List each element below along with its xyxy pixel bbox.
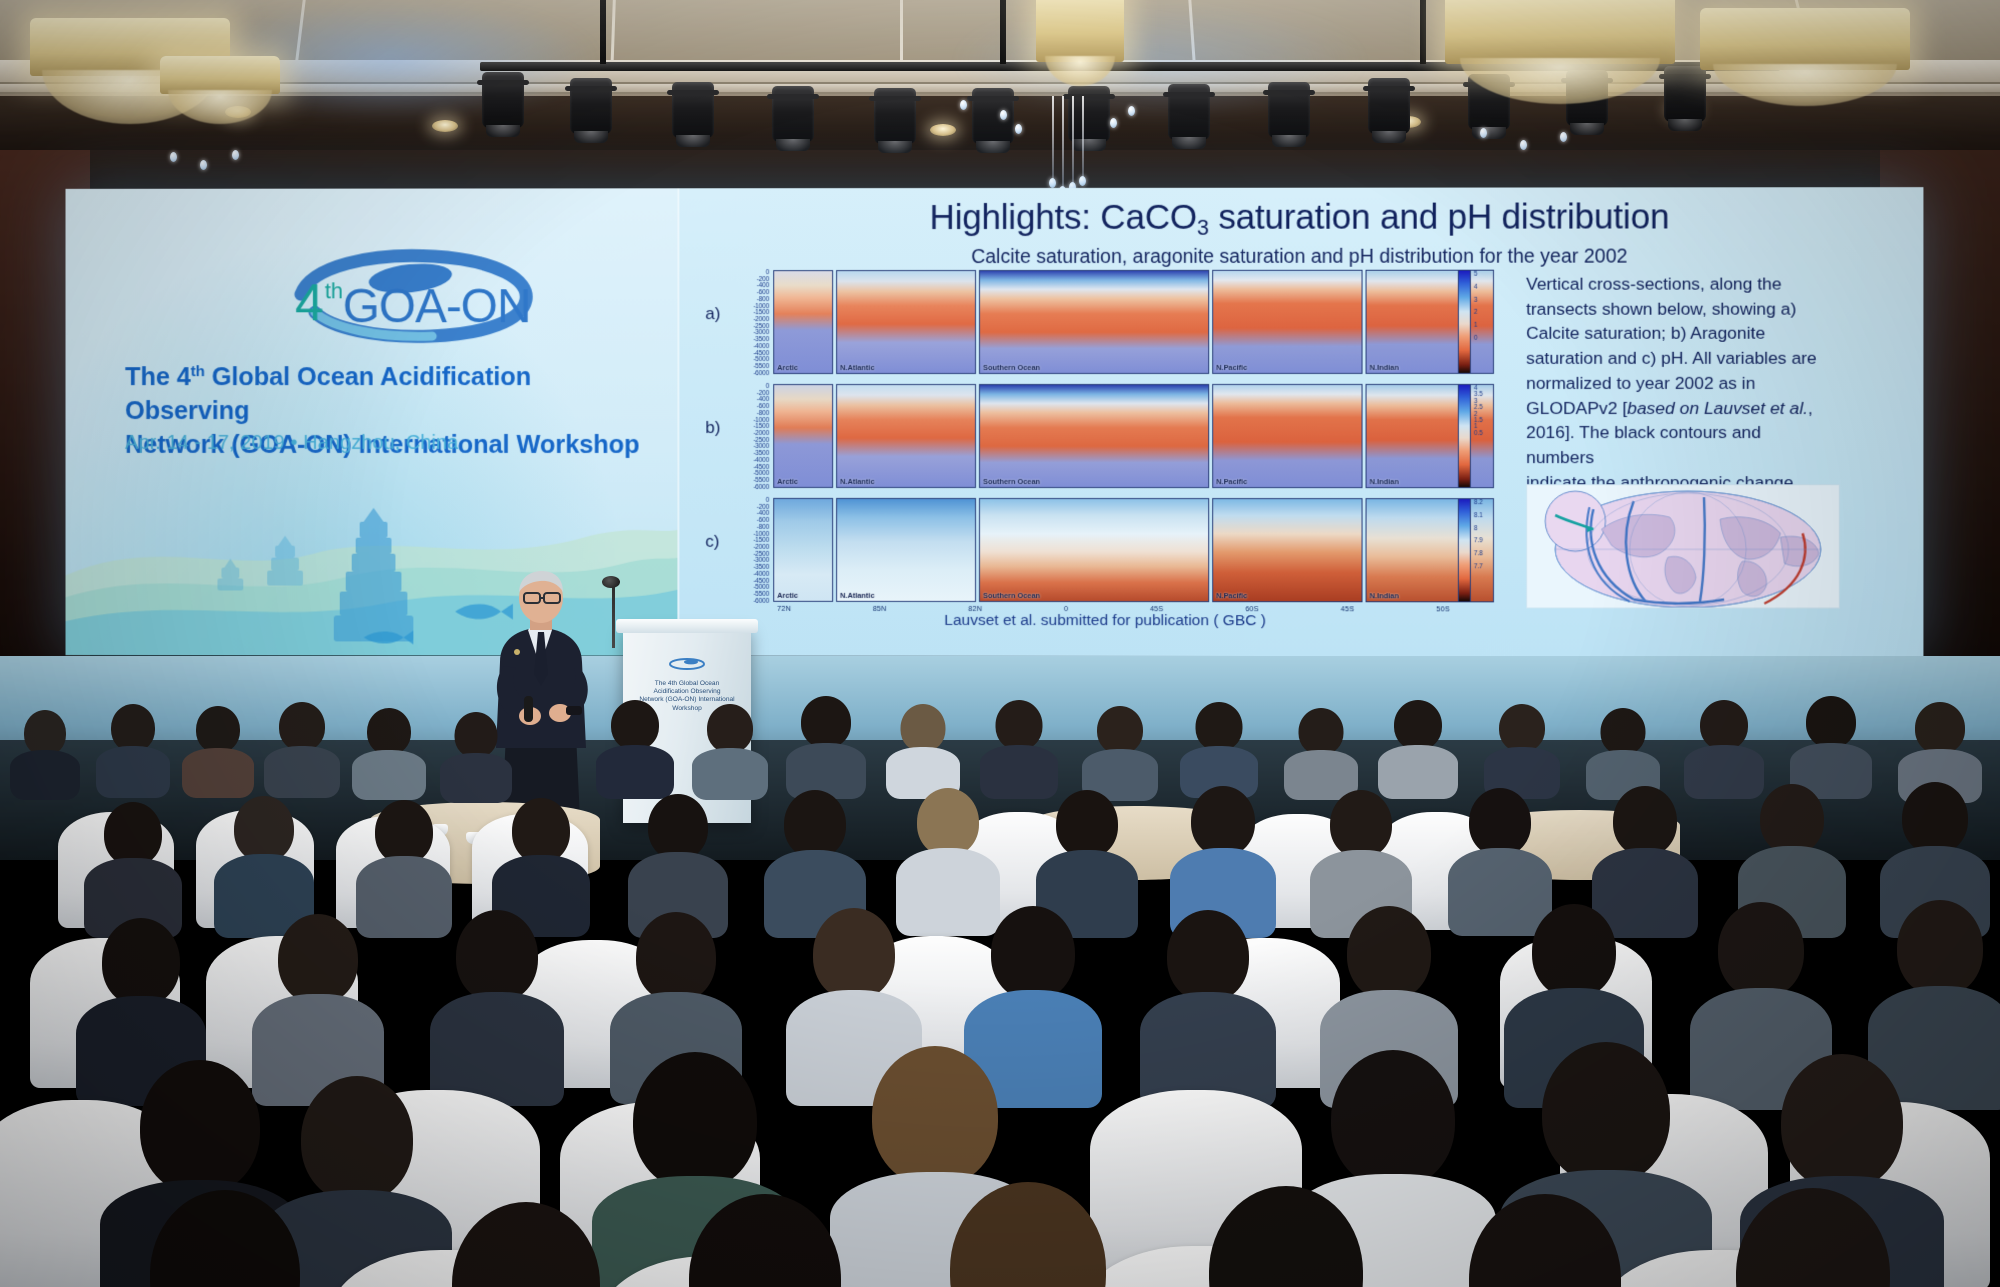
head [1056, 790, 1118, 858]
lectern-top [616, 619, 758, 633]
panel-b-depth-axis: 0-200-400-600-800-1000-1500-2000-2500-30… [709, 384, 769, 491]
section-southern-ocean: Southern Ocean [979, 270, 1209, 374]
head [648, 794, 708, 860]
audience-member [1082, 706, 1158, 798]
chandelier-bead [1128, 106, 1135, 116]
head [1902, 782, 1968, 854]
head [689, 1194, 841, 1287]
stage-light [482, 72, 524, 128]
section-npacific: N.Pacific [1212, 498, 1362, 602]
head [707, 704, 753, 753]
audience-member [886, 704, 960, 796]
chandelier-strand [1072, 96, 1074, 186]
head [1330, 790, 1392, 858]
section-label: N.Pacific [1216, 363, 1247, 372]
slide-title-subscript: 3 [1197, 215, 1209, 240]
panel-c-depth-axis: 0-200-400-600-800-1000-1500-2000-2500-30… [709, 498, 769, 605]
svg-text:th: th [325, 278, 343, 303]
head [1167, 910, 1249, 1002]
side-text-citation-italic: based on Lauvset et al. [1627, 397, 1808, 417]
stage-light [570, 78, 612, 134]
section-label: Arctic [777, 477, 798, 486]
chandelier-center [1000, 0, 1160, 190]
lectern-logo [666, 658, 708, 671]
head [455, 712, 498, 758]
transect-world-map [1526, 484, 1840, 609]
head [813, 908, 895, 1000]
audience-member [1484, 704, 1560, 796]
head [784, 790, 846, 858]
section-arctic: Arctic [773, 498, 833, 602]
workshop-title-ordinal: th [191, 363, 205, 380]
figure-stack: a) 0-200-400-600-800-1000-1500-2000-2500… [705, 270, 1506, 611]
head [102, 918, 180, 1006]
chandelier-bead [1560, 132, 1567, 142]
stage-light [1168, 84, 1210, 140]
side-text-line-7: 2016]. The black contours and numbers [1526, 420, 1830, 470]
head [456, 910, 538, 1002]
section-arctic: Arctic [773, 270, 833, 374]
head [1806, 696, 1856, 748]
audience-member [786, 696, 866, 796]
chandelier-bead [1015, 124, 1022, 134]
slide-subtitle: Calcite saturation, aragonite saturation… [677, 245, 1923, 269]
slide-citation: Lauvset et al. submitted for publication… [705, 612, 1506, 631]
audience-member [404, 1202, 648, 1287]
audience-member [440, 712, 512, 800]
audience-member [692, 704, 768, 796]
chandelier-bead [1000, 110, 1007, 120]
slide-title: Highlights: CaCO3 saturation and pH dist… [677, 197, 1923, 241]
head [1347, 906, 1431, 1000]
panel-c-sections: Arctic N.Atlantic Southern Ocean N.Pacif… [773, 498, 1506, 602]
stage-light [1268, 82, 1310, 138]
slide-title-pre: Highlights: CaCO [930, 198, 1197, 237]
section-southern-ocean: Southern Ocean [979, 498, 1209, 602]
head [1331, 1050, 1455, 1188]
head [1191, 786, 1255, 856]
chandelier-bead [170, 152, 177, 162]
svg-text:4: 4 [295, 273, 324, 331]
torso [596, 745, 674, 799]
audience-member [1586, 708, 1660, 798]
panel-c-colorbar [1458, 498, 1471, 602]
section-southern-ocean: Southern Ocean [979, 384, 1209, 488]
chandelier-bead [232, 150, 239, 160]
audience-member [84, 802, 182, 932]
panel-b: 0-200-400-600-800-1000-1500-2000-2500-30… [773, 384, 1506, 488]
head [301, 1076, 413, 1202]
section-npacific: N.Pacific [1212, 270, 1362, 374]
audience-member [1420, 1194, 1670, 1287]
audience-member [96, 704, 170, 796]
chandelier-bead [1079, 176, 1086, 186]
audience-member [1378, 700, 1458, 796]
head [917, 788, 979, 856]
stage-light [772, 86, 814, 142]
chandelier-bead [960, 100, 967, 110]
head [452, 1202, 600, 1287]
section-label: N.Atlantic [840, 363, 874, 372]
side-text-line-6-tail: , [1808, 397, 1813, 417]
head [611, 700, 659, 750]
side-text-line-1: Vertical cross-sections, along the [1526, 271, 1830, 296]
head [1736, 1188, 1890, 1287]
head [104, 802, 162, 866]
head [1209, 1186, 1363, 1287]
section-label: N.Atlantic [840, 477, 874, 486]
head [1097, 706, 1143, 754]
section-natlantic: N.Atlantic [836, 270, 976, 374]
section-label: N.Pacific [1216, 477, 1247, 486]
side-text-line-5: normalized to year 2002 as in [1526, 371, 1830, 396]
section-label: Southern Ocean [983, 363, 1040, 372]
head [111, 704, 155, 752]
head [1469, 788, 1531, 856]
truss-drop [1420, 0, 1426, 64]
side-text-line-4: saturation and c) pH. All variables are [1526, 346, 1830, 371]
head [872, 1046, 998, 1186]
audience-member [1284, 708, 1358, 798]
torso [440, 753, 512, 803]
head [150, 1190, 300, 1287]
stage-light [672, 82, 714, 138]
head [1394, 700, 1442, 750]
head [375, 800, 433, 864]
goa-on-logo: 4 th GOA-ON [259, 248, 538, 346]
chandelier-far-right [1690, 8, 1920, 158]
torso [264, 746, 340, 798]
section-natlantic: N.Atlantic [836, 384, 976, 488]
head [279, 702, 325, 751]
head [633, 1052, 757, 1190]
audience-member [10, 710, 80, 796]
head [1613, 786, 1677, 856]
svg-text:GOA-ON: GOA-ON [343, 280, 531, 333]
truss-drop [600, 0, 606, 64]
side-text-line-6-plain: GLODAPv2 [ [1526, 397, 1627, 417]
head [950, 1182, 1106, 1287]
section-label: Arctic [777, 363, 798, 372]
head [140, 1060, 260, 1194]
head [1915, 702, 1965, 754]
head [636, 912, 716, 1002]
head [1299, 708, 1344, 755]
head [1532, 904, 1616, 998]
chandelier-strand [1082, 96, 1084, 180]
slide-title-post: saturation and pH distribution [1209, 197, 1669, 236]
section-label: N.Indian [1370, 363, 1399, 372]
section-label: N.Indian [1370, 477, 1399, 486]
head [1499, 704, 1545, 752]
downlight [930, 124, 956, 136]
microphone-stand [612, 584, 615, 648]
section-label: Arctic [777, 591, 798, 600]
panel-c: 0-200-400-600-800-1000-1500-2000-2500-30… [773, 498, 1506, 602]
side-text-line-2: transects shown below, showing a) [1526, 296, 1830, 321]
panel-a-colorbar-ticks: 543210 [1474, 272, 1478, 343]
audience-member [352, 708, 426, 798]
panel-b-colorbar [1458, 384, 1471, 488]
section-label: Southern Ocean [983, 591, 1040, 600]
audience-member [640, 1194, 890, 1287]
slide-side-text: Vertical cross-sections, along the trans… [1526, 271, 1830, 519]
head [1469, 1194, 1621, 1287]
panel-c-colorbar-ticks: 8.28.187.97.87.7 [1474, 500, 1483, 571]
torso [352, 750, 426, 800]
audience-member [214, 796, 314, 932]
audience-member [1140, 910, 1276, 1098]
downlight [432, 120, 458, 132]
section-arctic: Arctic [773, 384, 833, 488]
head [1542, 1042, 1670, 1184]
audience-member [182, 706, 254, 796]
audience-member [430, 910, 564, 1098]
audience-member [100, 1190, 350, 1287]
chandelier-strand [1052, 96, 1054, 182]
head [196, 706, 240, 753]
chandelier-bead [1110, 118, 1117, 128]
torso [182, 748, 254, 798]
head [1196, 702, 1243, 751]
panel-a-depth-axis: 0-200-400-600-800-1000-1500-2000-2500-30… [709, 270, 769, 377]
section-npacific: N.Pacific [1212, 384, 1362, 488]
audience-member [596, 700, 674, 796]
head [801, 696, 851, 748]
chandelier-bead [1049, 178, 1056, 188]
side-text-line-6: GLODAPv2 [based on Lauvset et al., [1526, 395, 1830, 420]
head [901, 704, 946, 752]
torso [692, 748, 768, 800]
head [512, 798, 570, 863]
head [1781, 1054, 1903, 1190]
head [1718, 902, 1804, 998]
audience-member [264, 702, 340, 796]
section-natlantic: N.Atlantic [836, 498, 976, 602]
head [991, 906, 1075, 1000]
side-text-line-3: Calcite saturation; b) Aragonite [1526, 321, 1830, 346]
audience-member [1160, 1186, 1412, 1287]
panel-a-colorbar [1458, 270, 1471, 374]
audience-member [1790, 696, 1872, 796]
audience-member [1684, 700, 1764, 796]
chandelier-bead [1480, 128, 1487, 138]
head [1700, 700, 1748, 750]
head [1760, 784, 1824, 854]
audience-member [1180, 702, 1258, 796]
panel-a: 0-200-400-600-800-1000-1500-2000-2500-30… [773, 270, 1506, 374]
stage-light [874, 88, 916, 144]
section-label: Southern Ocean [983, 477, 1040, 486]
head [1897, 900, 1983, 996]
panel-b-colorbar-ticks: 43.532.521.510.5 [1474, 386, 1483, 437]
projection-screen: 4 th GOA-ON The 4th Global Ocean Acidifi… [66, 187, 1924, 657]
head [367, 708, 411, 755]
section-label: N.Pacific [1216, 591, 1247, 600]
section-label: N.Atlantic [840, 591, 874, 600]
audience: FOREVER [0, 690, 2000, 1287]
torso [10, 750, 80, 800]
head [278, 914, 358, 1004]
scene-root: 4 th GOA-ON The 4th Global Ocean Acidifi… [0, 0, 2000, 1287]
section-label: N.Indian [1370, 591, 1399, 600]
workshop-date: Apr. 14 - 17, 2019 • Hangzhou, China [125, 432, 642, 455]
chandelier-strand [1062, 96, 1064, 190]
head [1601, 708, 1646, 755]
stage-light [1368, 78, 1410, 134]
audience-member [900, 1182, 1156, 1287]
chandelier-bead [1520, 140, 1527, 150]
panel-b-sections: Arctic N.Atlantic Southern Ocean N.Pacif… [773, 384, 1506, 488]
head [234, 796, 294, 862]
panel-a-sections: Arctic N.Atlantic Southern Ocean N.Pacif… [773, 270, 1506, 374]
head [996, 700, 1043, 750]
workshop-title-line1-pre: The 4 [125, 363, 191, 391]
chandelier-bead [200, 160, 207, 170]
torso [96, 746, 170, 798]
audience-member [980, 700, 1058, 796]
audience-member [1686, 1188, 1940, 1287]
